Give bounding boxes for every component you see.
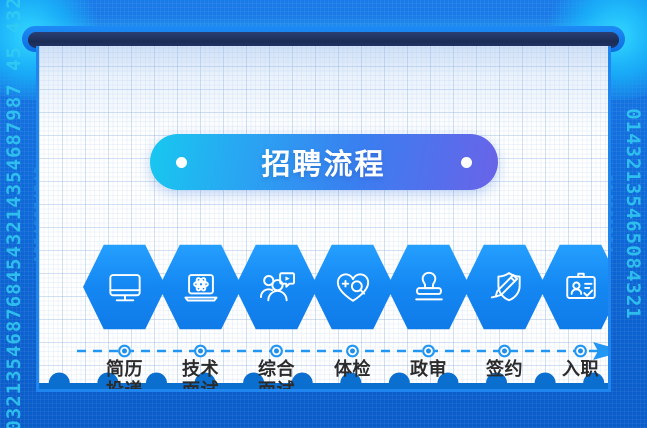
flow-step-hexagon-3[interactable] [235,243,318,331]
flow-step-hexagon-1[interactable] [83,243,166,331]
recruitment-flow: 简历投递技术面试综合面试体检政审签约入职 [83,242,582,392]
flow-step-label-4: 体检 [315,360,391,392]
flow-step-label-7: 入职 [543,360,612,392]
flow-step-hexagon-2[interactable] [159,243,242,331]
flow-node-5[interactable] [422,345,435,358]
flow-step-hexagon-6[interactable] [463,243,546,331]
flow-node-4[interactable] [346,345,359,358]
laptop-atom-icon [179,265,223,309]
id-card-check-icon [559,265,603,309]
label-line-2: 面试 [239,381,315,392]
label-line-1: 简历 [87,360,163,381]
stamp-icon [407,265,451,309]
title-banner: 招聘流程 [150,134,498,190]
label-line-2: 面试 [163,381,239,392]
heart-search-icon [331,265,375,309]
flow-step-label-3: 综合面试 [239,360,315,392]
flow-step-label-5: 政审 [391,360,467,392]
flow-step-hexagon-4[interactable] [311,243,394,331]
flow-node-1[interactable] [118,345,131,358]
label-line-1: 签约 [467,360,543,381]
flow-node-6[interactable] [498,345,511,358]
label-line-1: 综合 [239,360,315,381]
label-line-1: 政审 [391,360,467,381]
content-card: 招聘流程 [36,46,611,392]
flow-step-label-1: 简历投递 [87,360,163,392]
flow-icon-row [83,242,582,332]
label-line-1: 入职 [543,360,612,381]
flow-step-hexagon-7[interactable] [539,243,611,331]
outer-frame: 00321354687684543214354687987 45 4321 13… [0,0,647,428]
title-dot-left-icon [176,157,187,168]
pen-shield-icon [483,265,527,309]
monitor-icon [103,265,147,309]
people-chat-icon [255,265,299,309]
flow-step-label-6: 签约 [467,360,543,392]
flow-label-row: 简历投递技术面试综合面试体检政审签约入职 [83,360,582,392]
flow-node-2[interactable] [194,345,207,358]
label-line-1: 体检 [315,360,391,381]
page-title: 招聘流程 [261,141,385,183]
flow-step-label-2: 技术面试 [163,360,239,392]
label-line-1: 技术 [163,360,239,381]
title-dot-right-icon [461,157,472,168]
flow-node-3[interactable] [270,345,283,358]
label-line-2: 投递 [87,381,163,392]
flow-node-7[interactable] [574,345,587,358]
flow-step-hexagon-5[interactable] [387,243,470,331]
